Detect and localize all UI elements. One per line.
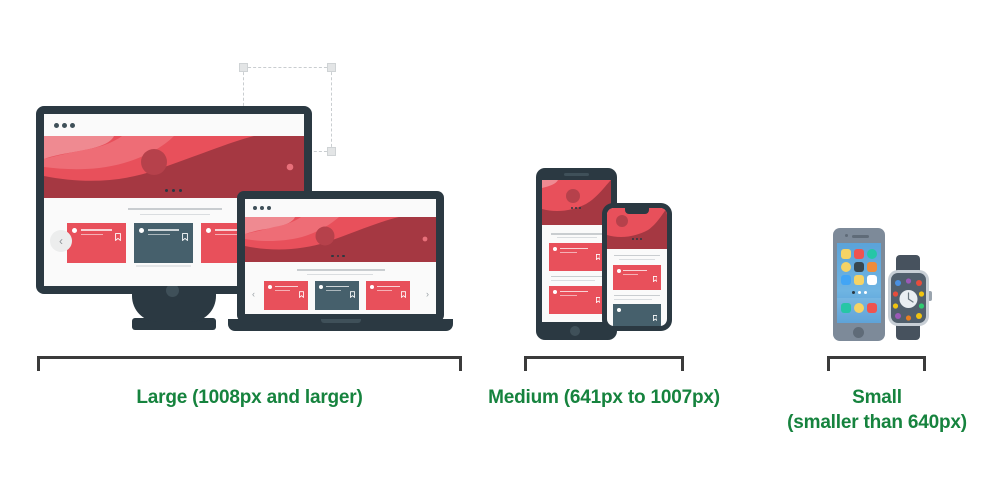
page-indicator-dot[interactable] xyxy=(858,291,861,294)
card-sub-line xyxy=(623,274,638,275)
content-rule xyxy=(619,259,655,260)
bookmark-icon[interactable] xyxy=(299,285,304,303)
app-icon[interactable] xyxy=(854,275,864,285)
app-icon[interactable] xyxy=(854,249,864,259)
phone-small-home-button[interactable] xyxy=(853,327,864,338)
content-rule xyxy=(128,208,222,210)
bookmark-glyph xyxy=(653,276,658,282)
window-dot xyxy=(70,123,75,128)
selection-handle-top-right[interactable] xyxy=(327,63,336,72)
hero-carousel-dots[interactable] xyxy=(331,255,345,258)
hero-accent-dot xyxy=(287,164,294,171)
bracket-bar xyxy=(524,356,684,359)
hero-banner xyxy=(245,217,436,262)
selection-handle-bottom-right[interactable] xyxy=(327,147,336,156)
card-title-line xyxy=(623,270,647,271)
laptop-screen: ‹ › xyxy=(245,199,436,314)
illustration-canvas: ‹ xyxy=(0,0,1000,500)
content-card[interactable] xyxy=(264,281,308,310)
hero-sun xyxy=(616,215,628,227)
app-icon[interactable] xyxy=(867,249,877,259)
phone-small xyxy=(833,228,885,341)
tablet-speaker xyxy=(564,173,589,176)
hero-carousel-dot[interactable] xyxy=(179,189,182,192)
card-avatar xyxy=(617,269,621,273)
phone-large xyxy=(602,203,672,331)
card-avatar xyxy=(370,285,374,289)
hero-sun xyxy=(566,189,580,203)
app-icon[interactable] xyxy=(867,275,877,285)
content-rule xyxy=(614,299,652,300)
bookmark-icon[interactable] xyxy=(115,228,121,246)
bookmark-icon[interactable] xyxy=(401,285,406,303)
content-card[interactable] xyxy=(613,304,661,326)
bookmark-icon[interactable] xyxy=(182,228,188,246)
dock-app-icon[interactable] xyxy=(867,303,877,313)
hero-carousel-dot[interactable] xyxy=(571,207,573,209)
content-card[interactable] xyxy=(549,243,604,271)
laptop-trackpad-notch xyxy=(321,319,361,323)
card-sub-line xyxy=(275,290,290,291)
content-card[interactable] xyxy=(315,281,359,310)
hero-carousel-dot[interactable] xyxy=(579,207,581,209)
page-indicator-dot[interactable] xyxy=(852,291,855,294)
phone-small-speaker xyxy=(852,235,869,238)
carousel-next-button[interactable]: › xyxy=(426,289,429,299)
content-rule xyxy=(551,276,603,277)
card-sub-line xyxy=(81,234,103,235)
card-title-line xyxy=(560,291,588,292)
hero-carousel-dots[interactable] xyxy=(165,189,182,192)
app-icon[interactable] xyxy=(841,262,851,272)
content-rule xyxy=(307,274,373,275)
tablet-home-button[interactable] xyxy=(570,326,580,336)
carousel-prev-button[interactable]: ‹ xyxy=(252,289,255,299)
app-icon[interactable] xyxy=(867,262,877,272)
hero-sun xyxy=(141,149,167,175)
hero-carousel-dot[interactable] xyxy=(636,238,638,240)
bracket-tick-left xyxy=(524,356,527,371)
content-rule xyxy=(551,233,603,235)
content-card[interactable] xyxy=(67,223,126,263)
content-rule xyxy=(297,269,385,271)
content-rule xyxy=(557,237,597,238)
hero-carousel-dot[interactable] xyxy=(165,189,168,192)
dock-app-icon[interactable] xyxy=(854,303,864,313)
bookmark-glyph xyxy=(115,233,121,241)
hero-carousel-dot[interactable] xyxy=(575,207,577,209)
bookmark-glyph xyxy=(182,233,188,241)
bookmark-icon[interactable] xyxy=(653,269,658,287)
phone-small-camera xyxy=(845,234,848,237)
app-icon[interactable] xyxy=(841,275,851,285)
smartwatch xyxy=(883,255,933,340)
card-shadow xyxy=(136,265,191,267)
content-card[interactable] xyxy=(613,265,661,290)
card-title-line xyxy=(148,229,179,231)
hero-banner xyxy=(607,208,667,249)
bookmark-glyph xyxy=(596,297,601,303)
hero-artwork xyxy=(542,180,611,225)
bracket-tick-right xyxy=(681,356,684,371)
bookmark-icon[interactable] xyxy=(596,247,601,265)
card-title-line xyxy=(326,286,349,287)
bracket-small xyxy=(827,356,926,372)
hero-artwork xyxy=(607,208,667,249)
content-card[interactable] xyxy=(549,286,604,314)
bracket-medium xyxy=(524,356,684,372)
hero-carousel-dot[interactable] xyxy=(342,255,345,258)
hero-carousel-dots[interactable] xyxy=(632,238,642,240)
bracket-tick-right xyxy=(923,356,926,371)
phone-notch xyxy=(625,208,649,214)
dock-app-icon[interactable] xyxy=(841,303,851,313)
card-avatar xyxy=(139,228,144,233)
card-sub-line xyxy=(560,252,577,253)
laptop: ‹ › xyxy=(228,191,453,339)
bookmark-icon[interactable] xyxy=(653,308,658,326)
bracket-tick-left xyxy=(827,356,830,371)
bookmark-glyph xyxy=(299,291,304,298)
content-card[interactable] xyxy=(366,281,410,310)
window-dot xyxy=(260,206,264,210)
window-dot xyxy=(253,206,257,210)
card-avatar xyxy=(319,285,323,289)
bookmark-icon[interactable] xyxy=(596,290,601,308)
page-indicator-dot[interactable] xyxy=(864,291,867,294)
hero-carousel-dot[interactable] xyxy=(632,238,634,240)
hero-carousel-dot[interactable] xyxy=(640,238,642,240)
card-sub-line xyxy=(560,295,577,296)
card-avatar xyxy=(617,308,621,312)
hero-carousel-dot[interactable] xyxy=(331,255,334,258)
hero-banner xyxy=(44,136,304,198)
breakpoint-label-medium: Medium (641px to 1007px) xyxy=(474,385,734,410)
card-title-line xyxy=(377,286,400,287)
card-avatar xyxy=(553,290,557,294)
bookmark-glyph xyxy=(596,254,601,260)
window-dot xyxy=(62,123,67,128)
bracket-large xyxy=(37,356,462,372)
content-rule xyxy=(551,280,595,281)
selection-handle-top-left[interactable] xyxy=(239,63,248,72)
window-dots xyxy=(253,206,271,210)
watch-face xyxy=(891,273,926,323)
app-icon[interactable] xyxy=(841,249,851,259)
phone-small-screen xyxy=(837,243,881,323)
hero-carousel-dot[interactable] xyxy=(172,189,175,192)
card-avatar xyxy=(268,285,272,289)
hero-banner xyxy=(542,180,611,225)
card-avatar xyxy=(206,228,211,233)
content-card[interactable] xyxy=(134,223,193,263)
bracket-bar xyxy=(827,356,926,359)
card-sub-line xyxy=(148,234,170,235)
breakpoint-label-large: Large (1008px and larger) xyxy=(37,385,462,410)
window-dot xyxy=(54,123,59,128)
card-title-line xyxy=(81,229,112,231)
app-icon[interactable] xyxy=(854,262,864,272)
watch-face-artwork xyxy=(891,273,926,323)
bookmark-glyph xyxy=(350,291,355,298)
card-avatar xyxy=(553,247,557,251)
phone-screen xyxy=(607,208,667,326)
content-rule xyxy=(140,214,210,215)
bracket-tick-left xyxy=(37,356,40,371)
card-title-line xyxy=(560,248,588,249)
card-sub-line xyxy=(326,290,341,291)
tablet-screen xyxy=(542,180,611,322)
content-rule xyxy=(614,255,660,256)
hero-carousel-dot[interactable] xyxy=(337,255,340,258)
window-dots xyxy=(54,123,75,128)
hero-carousel-dots[interactable] xyxy=(571,207,581,209)
content-rule xyxy=(614,295,660,296)
card-avatar xyxy=(72,228,77,233)
bookmark-glyph xyxy=(401,291,406,298)
hero-accent-dot xyxy=(423,237,428,242)
window-dot xyxy=(267,206,271,210)
bracket-bar xyxy=(37,356,462,359)
bracket-tick-right xyxy=(459,356,462,371)
breakpoint-label-small: Small (smaller than 640px) xyxy=(746,385,1000,435)
hero-sun xyxy=(316,227,335,246)
card-title-line xyxy=(275,286,298,287)
carousel-prev-button[interactable]: ‹ xyxy=(50,230,72,252)
bookmark-icon[interactable] xyxy=(350,285,355,303)
card-sub-line xyxy=(377,290,392,291)
bookmark-glyph xyxy=(653,315,658,321)
